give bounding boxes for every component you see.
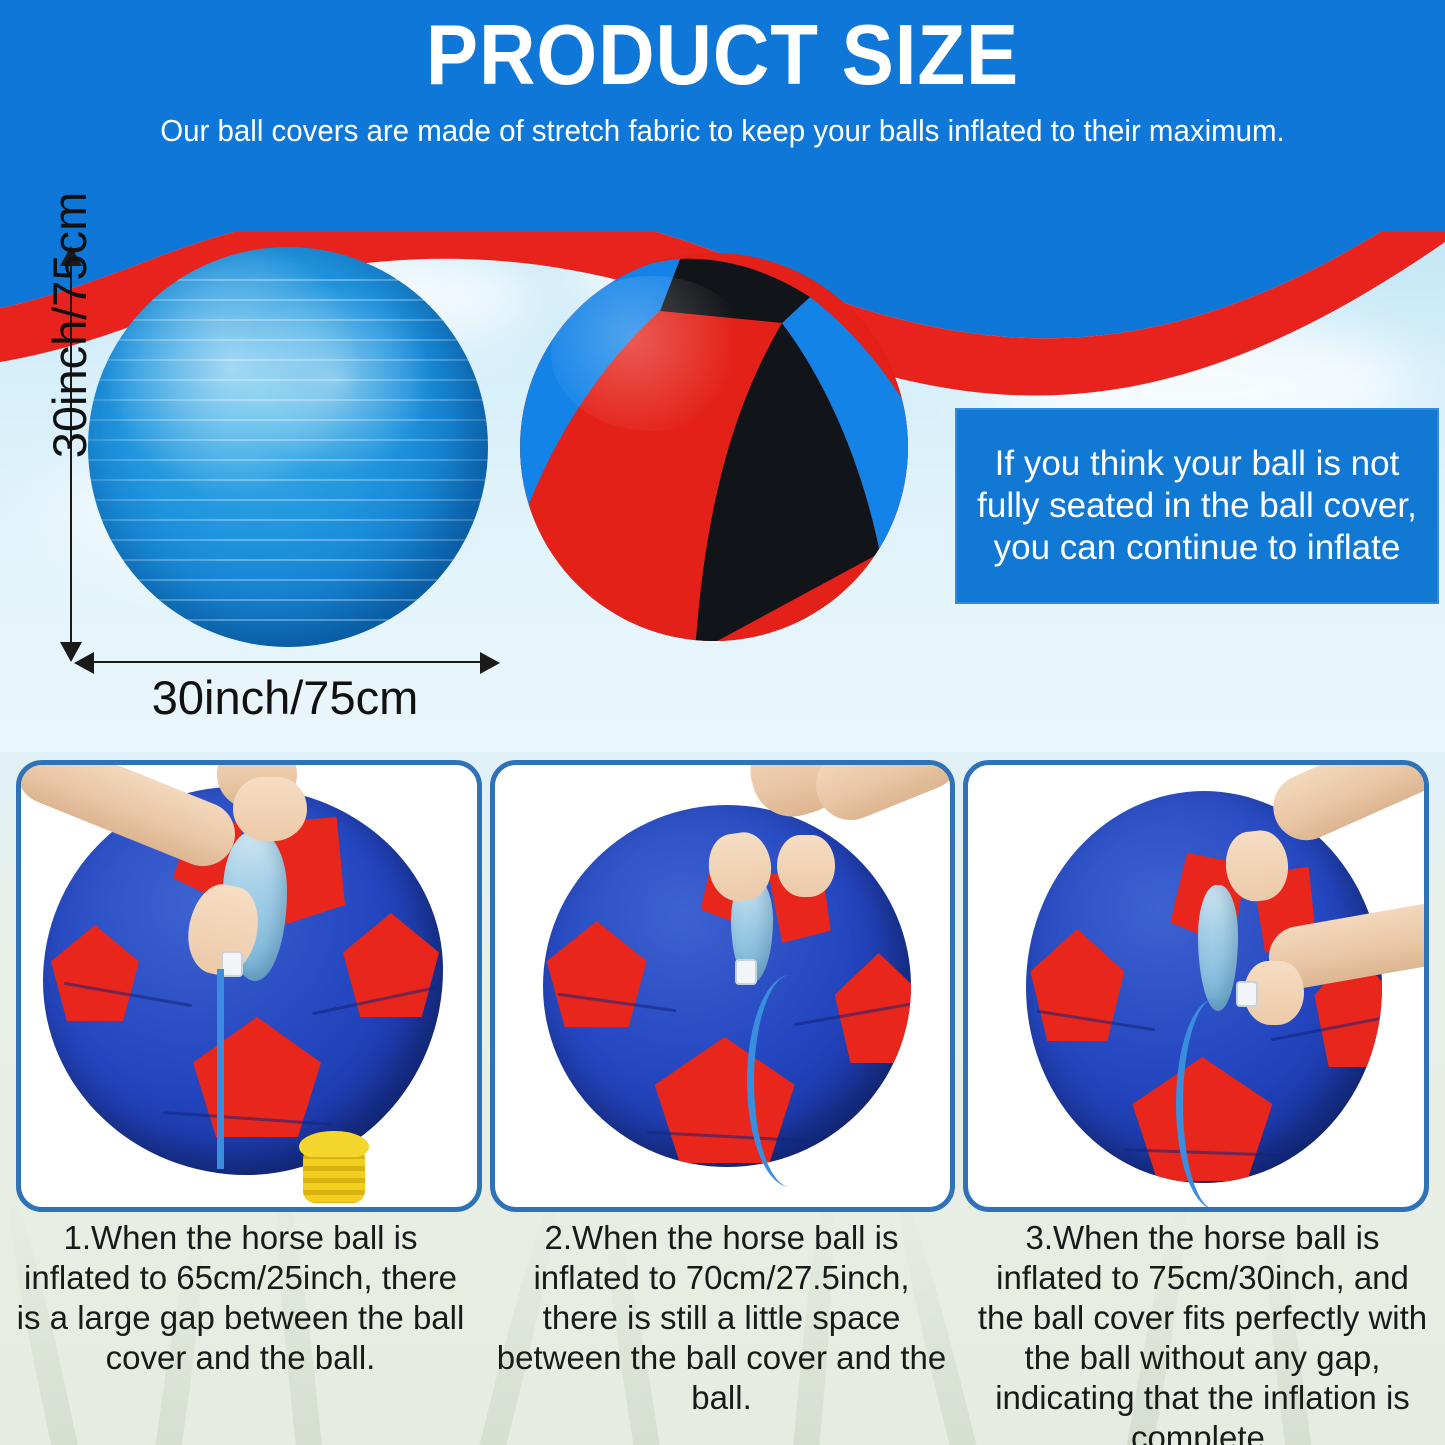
- step-1-caption: 1.When the horse ball is inflated to 65c…: [0, 1204, 481, 1445]
- step-photos-row: [0, 752, 1445, 1204]
- beach-ball-image: [520, 253, 908, 641]
- hand: [233, 777, 307, 841]
- width-arrow-right: [480, 652, 500, 674]
- inflate-tip-text: If you think your ball is not fully seat…: [957, 443, 1437, 569]
- step-3-caption: 3.When the horse ball is inflated to 75c…: [962, 1204, 1443, 1445]
- step-captions-row: 1.When the horse ball is inflated to 65c…: [0, 1204, 1445, 1445]
- exercise-ball-image: [88, 247, 488, 647]
- header-subtitle: Our ball covers are made of stretch fabr…: [103, 112, 1343, 149]
- step-3-photo: [963, 760, 1429, 1212]
- step-2-photo: [490, 760, 956, 1212]
- header-banner: PRODUCT SIZE Our ball covers are made of…: [0, 0, 1445, 232]
- product-size-infographic: PRODUCT SIZE Our ball covers are made of…: [0, 0, 1445, 1445]
- inflation-hose: [1176, 999, 1253, 1209]
- beach-ball-highlight: [551, 276, 753, 431]
- arm: [805, 760, 955, 831]
- width-dimension-line: [88, 661, 484, 663]
- inner-ball-visible: [1198, 885, 1238, 1011]
- width-arrow-left: [74, 652, 94, 674]
- width-dimension-label: 30inch/75cm: [70, 672, 500, 724]
- height-dimension-label: 30inch/75cm: [45, 125, 95, 525]
- steps-section: 1.When the horse ball is inflated to 65c…: [0, 752, 1445, 1445]
- step-1-photo: [16, 760, 482, 1212]
- step-2-caption: 2.When the horse ball is inflated to 70c…: [481, 1204, 962, 1445]
- inflate-tip-callout: If you think your ball is not fully seat…: [955, 408, 1439, 604]
- hose-clip: [1236, 981, 1258, 1007]
- inflation-hose: [217, 969, 250, 1169]
- foot-pump-top: [299, 1131, 369, 1157]
- hose-clip: [735, 959, 757, 985]
- page-title: PRODUCT SIZE: [58, 8, 1387, 104]
- inflation-hose: [747, 975, 834, 1187]
- hand: [777, 835, 835, 897]
